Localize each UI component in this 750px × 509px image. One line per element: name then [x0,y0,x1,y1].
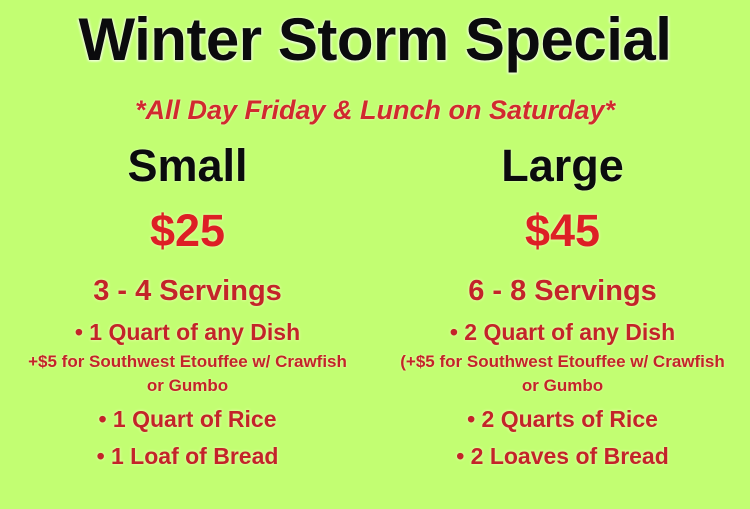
promo-subtitle: *All Day Friday & Lunch on Saturday* [0,92,750,128]
servings-small: 3 - 4 Servings [0,272,375,310]
fine-print-small-line1: +$5 for Southwest Etouffee w/ Crawfish [0,350,375,374]
fine-print-large-line1: (+$5 for Southwest Etouffee w/ Crawfish [375,350,750,374]
page-title: Winter Storm Special [0,4,750,76]
price-small: $25 [0,202,375,260]
fine-print-large-line2: or Gumbo [375,374,750,398]
servings-large: 6 - 8 Servings [375,272,750,310]
dish-line-small: • 1 Quart of any Dish [0,316,375,348]
rice-line-large: • 2 Quarts of Rice [375,403,750,435]
dish-line-large: • 2 Quart of any Dish [375,316,750,348]
size-heading-small: Small [0,138,375,194]
pricing-column-small: Small $25 3 - 4 Servings • 1 Quart of an… [0,138,375,472]
pricing-columns: Small $25 3 - 4 Servings • 1 Quart of an… [0,138,750,472]
bread-line-small: • 1 Loaf of Bread [0,440,375,472]
bread-line-large: • 2 Loaves of Bread [375,440,750,472]
rice-line-small: • 1 Quart of Rice [0,403,375,435]
pricing-column-large: Large $45 6 - 8 Servings • 2 Quart of an… [375,138,750,472]
promo-poster: Winter Storm Special *All Day Friday & L… [0,0,750,509]
size-heading-large: Large [375,138,750,194]
price-large: $45 [375,202,750,260]
fine-print-small-line2: or Gumbo [0,374,375,398]
